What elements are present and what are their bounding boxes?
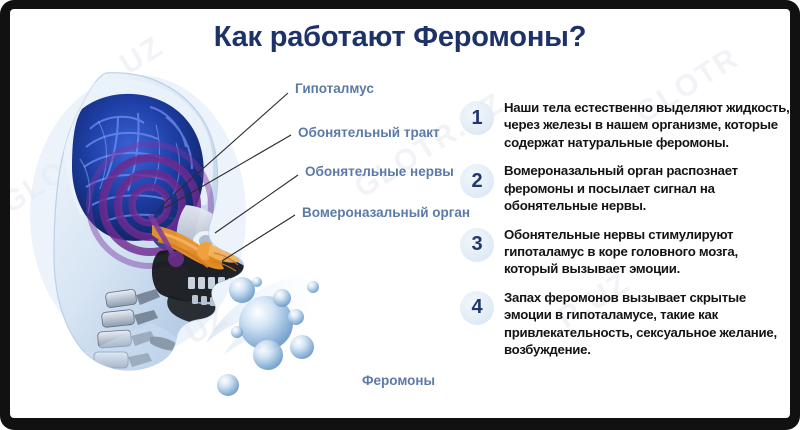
steps-list: 1 Наши тела естественно выделяют жидкост… <box>460 99 790 369</box>
anatomy-label-hypothalamus: Гипоталмус <box>295 81 374 96</box>
step-item: 1 Наши тела естественно выделяют жидкост… <box>460 99 790 151</box>
page-title: Как работают Феромоны? <box>10 21 790 54</box>
step-item: 4 Запах феромонов вызывает скрытые эмоци… <box>460 289 790 359</box>
step-item: 2 Вомероназальный орган распознает фером… <box>460 162 790 214</box>
head-anatomy-illustration <box>10 55 340 418</box>
step-number-badge: 2 <box>460 164 494 198</box>
step-number-badge: 3 <box>460 228 494 262</box>
anatomy-label-olfactory-tract: Обонятельный тракт <box>298 125 440 140</box>
step-text: Обонятельные нервы стимулируют гипоталам… <box>504 226 790 278</box>
step-text: Запах феромонов вызывает скрытые эмоции … <box>504 289 790 359</box>
anatomy-label-vomeronasal-organ: Вомероназальный орган <box>302 205 470 220</box>
infographic-canvas: GLOTR UZ GLOTR.UZ R.UZ GLOTR UZ Как рабо… <box>10 9 790 418</box>
step-text: Наши тела естественно выделяют жидкость,… <box>504 99 790 151</box>
step-number-badge: 4 <box>460 291 494 325</box>
pheromone-caption: Феромоны <box>362 373 435 388</box>
anatomy-label-olfactory-nerves: Обонятельные нервы <box>305 164 454 179</box>
infographic-container: GLOTR UZ GLOTR.UZ R.UZ GLOTR UZ Как рабо… <box>0 0 800 430</box>
step-item: 3 Обонятельные нервы стимулируют гипотал… <box>460 226 790 278</box>
step-text: Вомероназальный орган распознает феромон… <box>504 162 790 214</box>
step-number-badge: 1 <box>460 101 494 135</box>
